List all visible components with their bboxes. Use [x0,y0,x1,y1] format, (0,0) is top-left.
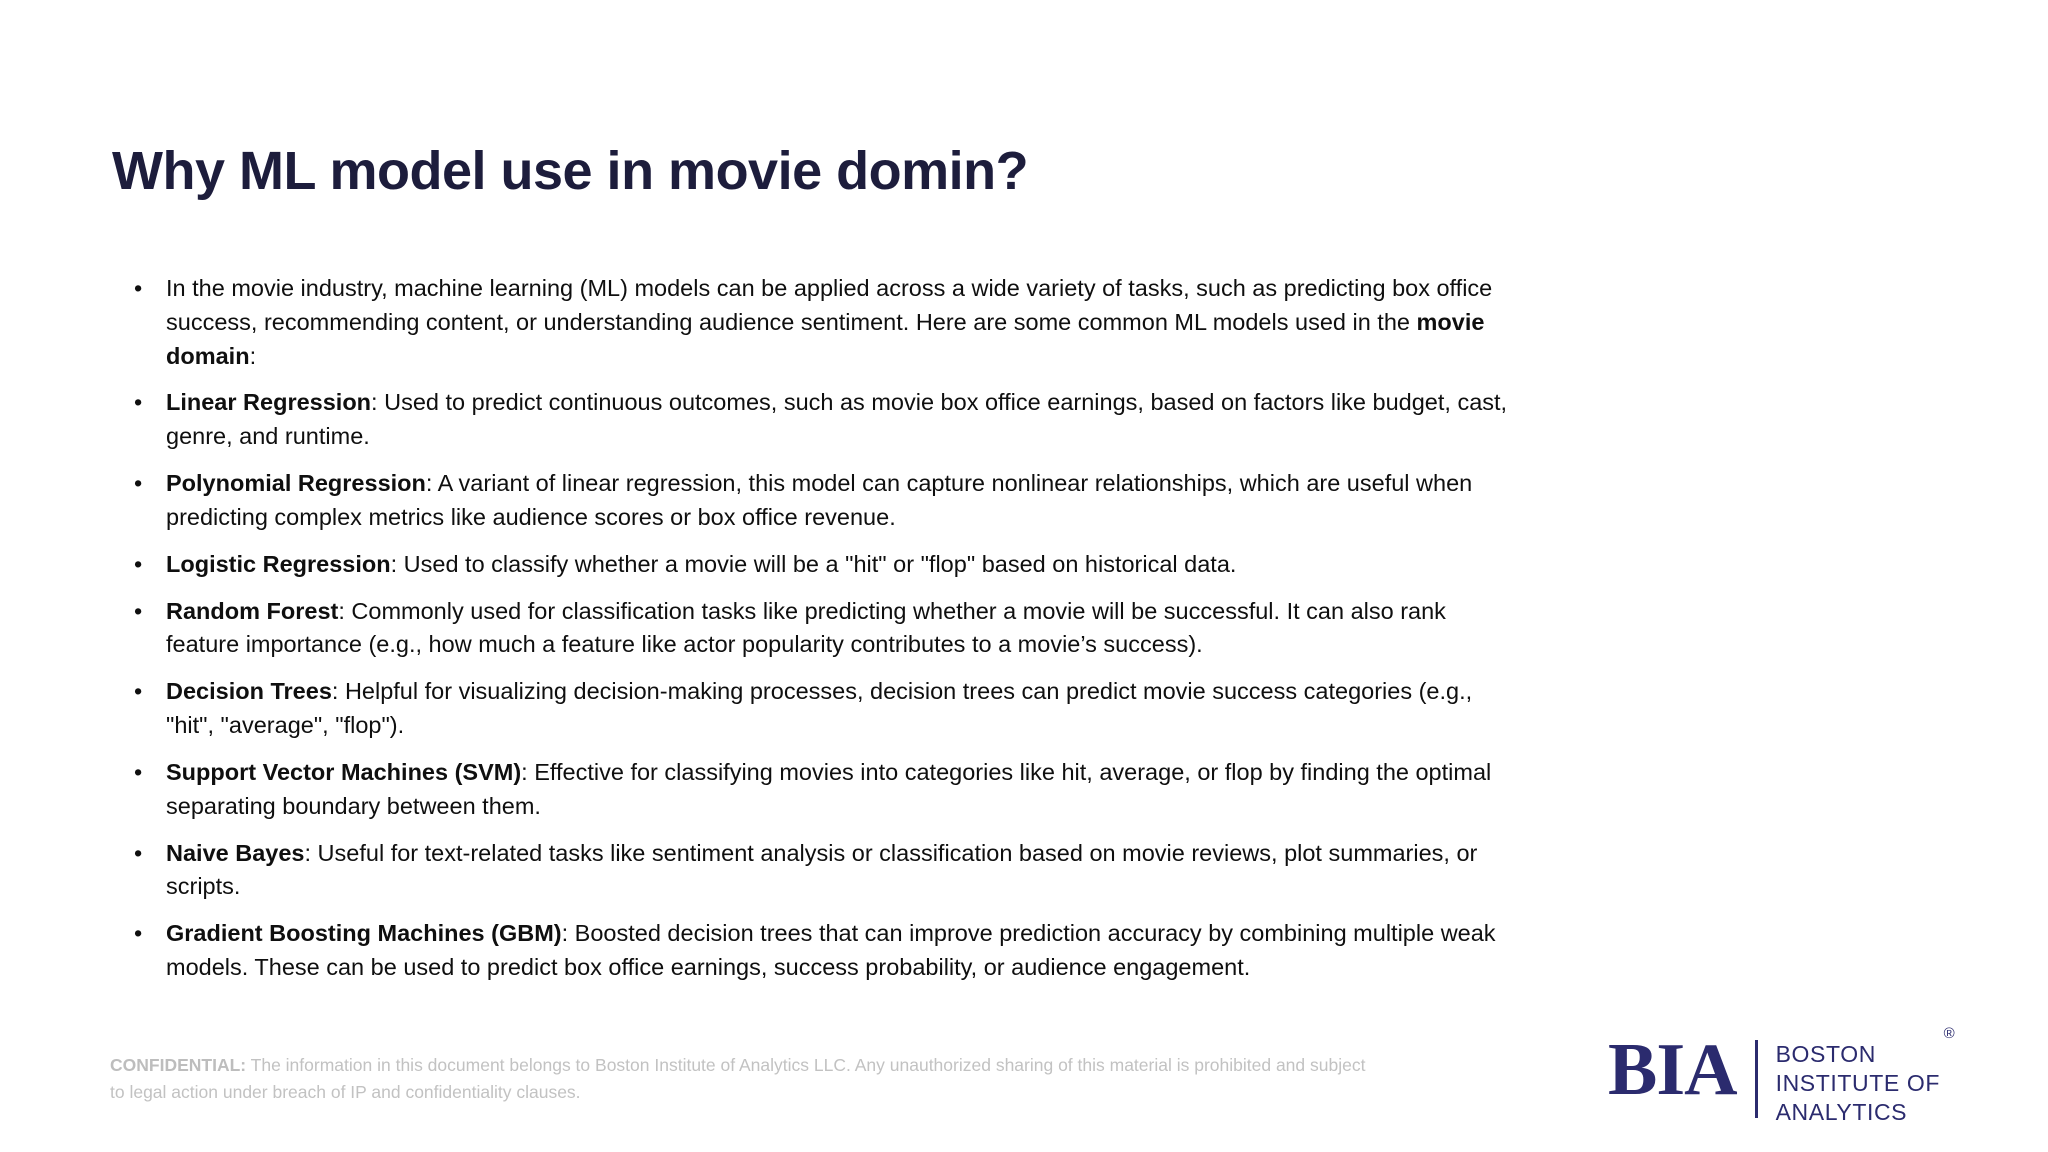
bullet-term-polynomial-regression: Polynomial Regression [166,470,426,496]
list-item: •Random Forest: Commonly used for classi… [128,595,1518,663]
bullet-term-gbm: Gradient Boosting Machines (GBM) [166,920,562,946]
page-title: Why ML model use in movie domin? [112,140,1612,202]
bullet-description: : Used to classify whether a movie will … [391,551,1237,577]
bullet-term-naive-bayes: Naive Bayes [166,840,305,866]
bullet-term-random-forest: Random Forest [166,598,338,624]
registered-trademark-icon: ® [1944,1026,1955,1041]
bullet-description: : Helpful for visualizing decision-makin… [166,678,1472,738]
bullet-marker-icon: • [134,548,152,582]
bullet-text-tail: : [250,343,257,369]
bullet-marker-icon: • [134,756,152,790]
bullet-list: •In the movie industry, machine learning… [128,272,1518,985]
bullet-marker-icon: • [134,917,152,951]
logo-line-boston: BOSTON [1776,1040,1940,1069]
bullet-marker-icon: • [134,595,152,629]
list-item: •Polynomial Regression: A variant of lin… [128,467,1518,535]
bullet-marker-icon: • [134,837,152,871]
bullet-marker-icon: • [134,467,152,501]
list-item: •Support Vector Machines (SVM): Effectiv… [128,756,1518,824]
bullet-term-logistic-regression: Logistic Regression [166,551,391,577]
logo-wordmark: BIA [1608,1036,1755,1104]
list-item: •Decision Trees: Helpful for visualizing… [128,675,1518,743]
bullet-marker-icon: • [134,272,152,306]
logo-line-institute-of: INSTITUTE OF [1776,1069,1940,1098]
bullet-marker-icon: • [134,675,152,709]
bullet-term-linear-regression: Linear Regression [166,389,371,415]
bullet-marker-icon: • [134,386,152,420]
list-item: •Logistic Regression: Used to classify w… [128,548,1518,582]
list-item: •Naive Bayes: Useful for text-related ta… [128,837,1518,905]
logo-text-block: ® BOSTON INSTITUTE OF ANALYTICS [1758,1036,1940,1127]
bullet-description: : Commonly used for classification tasks… [166,598,1446,658]
confidential-body: The information in this document belongs… [110,1055,1365,1102]
list-item: •Gradient Boosting Machines (GBM): Boost… [128,917,1518,985]
bullet-term-decision-trees: Decision Trees [166,678,332,704]
bullet-term-svm: Support Vector Machines (SVM) [166,759,521,785]
logo-line-analytics: ANALYTICS [1776,1098,1940,1127]
bullet-text-lead: In the movie industry, machine learning … [166,275,1492,335]
confidential-label: CONFIDENTIAL: [110,1055,246,1075]
bullet-description: : Useful for text-related tasks like sen… [166,840,1477,900]
list-item: •In the movie industry, machine learning… [128,272,1518,373]
list-item: •Linear Regression: Used to predict cont… [128,386,1518,454]
bia-logo: BIA ® BOSTON INSTITUTE OF ANALYTICS [1608,1036,1940,1132]
slide-canvas: Why ML model use in movie domin? •In the… [0,0,2048,1152]
confidentiality-notice: CONFIDENTIAL: The information in this do… [110,1052,1380,1106]
